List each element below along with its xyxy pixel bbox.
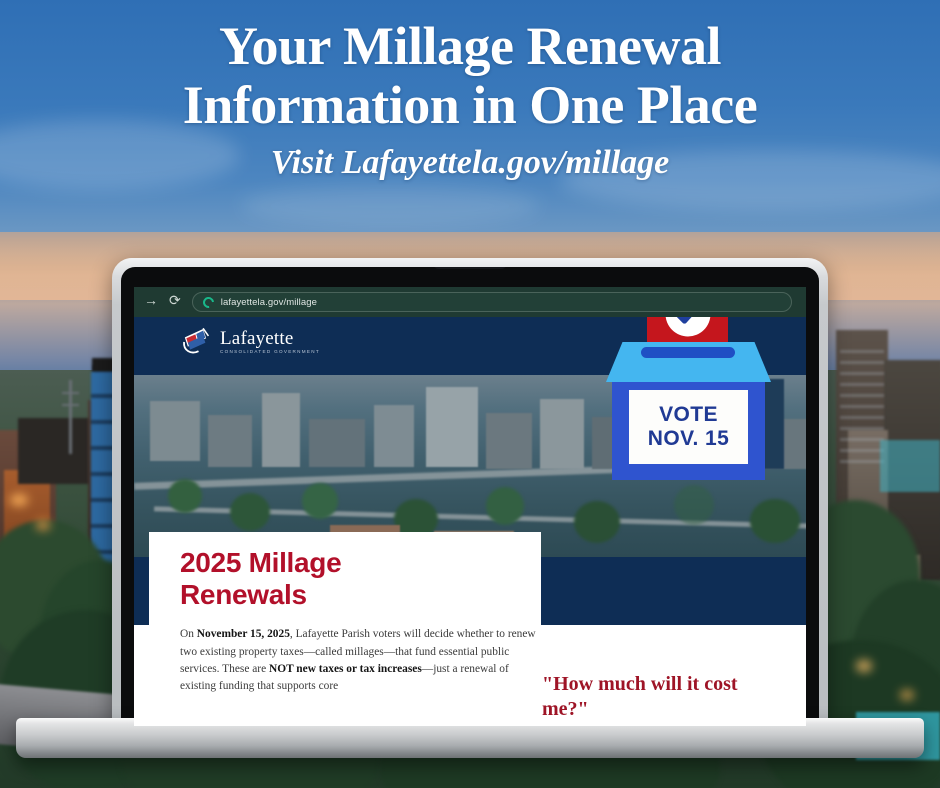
hero-building <box>486 413 532 469</box>
site-favicon-icon <box>201 294 216 309</box>
hero-building <box>309 419 365 467</box>
logo-name: Lafayette <box>220 329 320 348</box>
ballot-box-body: VOTE NOV. 15 <box>612 378 765 480</box>
address-bar-url: lafayettela.gov/millage <box>221 297 317 308</box>
forward-arrow-icon[interactable]: → <box>144 295 158 309</box>
body-emphasis: NOT new taxes or tax increases <box>269 663 422 675</box>
hero-tree <box>302 483 338 519</box>
logo-subtitle: CONSOLIDATED GOVERNMENT <box>220 350 320 355</box>
headline-line-1: Your Millage Renewal <box>219 16 721 76</box>
body-prefix: On <box>180 628 197 640</box>
hero-tree <box>168 479 202 513</box>
body-key-date: November 15, 2025 <box>197 628 290 640</box>
laptop-lid: → ⟳ lafayettela.gov/millage <box>112 258 828 726</box>
checkmark-icon <box>665 317 710 337</box>
laptop-webcam-notch <box>433 267 507 269</box>
hero-tree <box>574 501 620 543</box>
antenna-crossbar <box>62 404 79 406</box>
hero-tree <box>230 493 270 531</box>
poster-stage: Your Millage Renewal Information in One … <box>0 0 940 788</box>
antenna-crossbar <box>62 392 79 394</box>
building-windows <box>840 350 884 470</box>
ballot-box-graphic: VOTE NOV. 15 <box>606 317 771 480</box>
lafayette-logo-mark-icon <box>180 326 214 358</box>
article-title: 2025 Millage Renewals <box>180 547 540 610</box>
headline-banner: Your Millage Renewal Information in One … <box>0 0 940 232</box>
hero-building <box>540 399 584 469</box>
millage-article: 2025 Millage Renewals On November 15, 20… <box>180 547 540 696</box>
window-glow <box>36 520 50 530</box>
page-headline: Your Millage Renewal Information in One … <box>0 19 940 133</box>
article-title-line-1: 2025 Millage <box>180 547 341 578</box>
article-body: On November 15, 2025, Lafayette Parish v… <box>180 626 540 695</box>
hero-building <box>374 405 414 467</box>
reload-icon[interactable]: ⟳ <box>169 295 181 309</box>
hero-building <box>262 393 300 467</box>
website-content: Lafayette CONSOLIDATED GOVERNMENT <box>134 317 806 726</box>
building-shape <box>18 418 96 484</box>
window-glow <box>856 660 872 672</box>
window-glow <box>900 690 914 700</box>
cost-question-heading: "How much will it cost me?" <box>542 672 777 722</box>
vote-label-line-1: VOTE <box>659 404 718 427</box>
vote-date-label: VOTE NOV. 15 <box>629 390 748 464</box>
vote-label-line-2: NOV. 15 <box>648 428 729 451</box>
ballot-box-slot <box>641 347 735 358</box>
browser-toolbar: → ⟳ lafayettela.gov/millage <box>134 287 806 317</box>
headline-line-2: Information in One Place <box>0 78 940 133</box>
browser-window: → ⟳ lafayettela.gov/millage <box>134 287 806 726</box>
laptop-bezel: → ⟳ lafayettela.gov/millage <box>121 267 819 726</box>
address-bar[interactable]: lafayettela.gov/millage <box>192 292 792 312</box>
hero-building <box>150 401 200 461</box>
logo-wordmark: Lafayette CONSOLIDATED GOVERNMENT <box>220 329 320 355</box>
article-title-line-2: Renewals <box>180 579 307 610</box>
hero-tree <box>486 487 524 525</box>
pool-shape <box>880 440 940 492</box>
hero-tree <box>750 499 800 543</box>
window-glow <box>10 494 28 506</box>
page-subheadline: Visit Lafayettela.gov/millage <box>0 144 940 182</box>
hero-building <box>426 387 478 467</box>
hero-building <box>208 415 252 467</box>
laptop-mockup: → ⟳ lafayettela.gov/millage <box>112 258 828 726</box>
cloud-wisp <box>240 185 540 227</box>
hero-tree <box>674 485 714 525</box>
